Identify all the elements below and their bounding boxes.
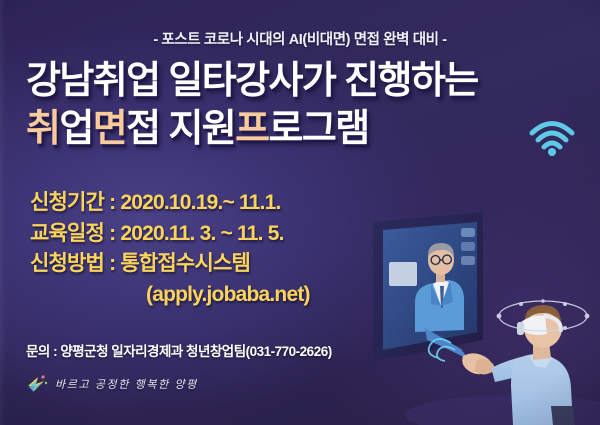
info-row-application-period: 신청기간 : 2020.10.19.~ 11.1. — [30, 188, 310, 219]
wifi-icon — [528, 118, 576, 158]
yangpyeong-logo: 바르고 공정한 행복한 양평 — [26, 374, 198, 394]
headline-part-4: 접 지원 — [126, 108, 235, 150]
video-screen — [373, 212, 483, 362]
headline-part-6: 로그램 — [269, 108, 369, 150]
headline-part-5: 프 — [235, 108, 268, 150]
handshake — [462, 353, 494, 374]
info-row-application-method: 신청방법 : 통합접수시스템 — [30, 249, 310, 280]
poster-subtitle: - 포스트 코로나 시대의 AI(비대면) 면접 완벽 대비 - — [0, 28, 600, 49]
info-label-0: 신청기간 — [30, 191, 104, 214]
info-row-training-schedule: 교육일정 : 2020.11. 3. ~ 11. 5. — [30, 219, 310, 250]
headline-part-3: 면 — [93, 108, 126, 150]
logo-mark-icon — [26, 374, 48, 394]
info-value-2: 통합접수시스템 — [120, 252, 250, 275]
info-label-2: 신청방법 — [30, 252, 104, 275]
info-row-application-url: (apply.jobaba.net) — [30, 280, 310, 311]
headline-part-2: 업 — [59, 108, 92, 150]
logo-slogan: 바르고 공정한 행복한 양평 — [55, 376, 198, 392]
vr-interview-illustration — [365, 210, 600, 425]
headline-part-1: 취 — [26, 108, 59, 150]
contact-line: 문의 : 양평군청 일자리경제과 청년창업팀(031-770-2626) — [26, 340, 332, 360]
info-block: 신청기간 : 2020.10.19.~ 11.1. 교육일정 : 2020.11… — [30, 188, 310, 311]
left-edge-band — [0, 0, 6, 425]
info-label-1: 교육일정 — [30, 222, 104, 245]
poster-canvas: - 포스트 코로나 시대의 AI(비대면) 면접 완벽 대비 - 강남취업 일타… — [0, 0, 600, 425]
headline-line-2: 취업면접 지원프로그램 — [26, 110, 369, 148]
info-value-0: 2020.10.19.~ 11.1. — [120, 191, 280, 214]
headline-line-1: 강남취업 일타강사가 진행하는 — [26, 62, 478, 100]
info-value-1: 2020.11. 3. ~ 11. 5. — [120, 222, 283, 245]
info-value-3: (apply.jobaba.net) — [146, 283, 310, 306]
